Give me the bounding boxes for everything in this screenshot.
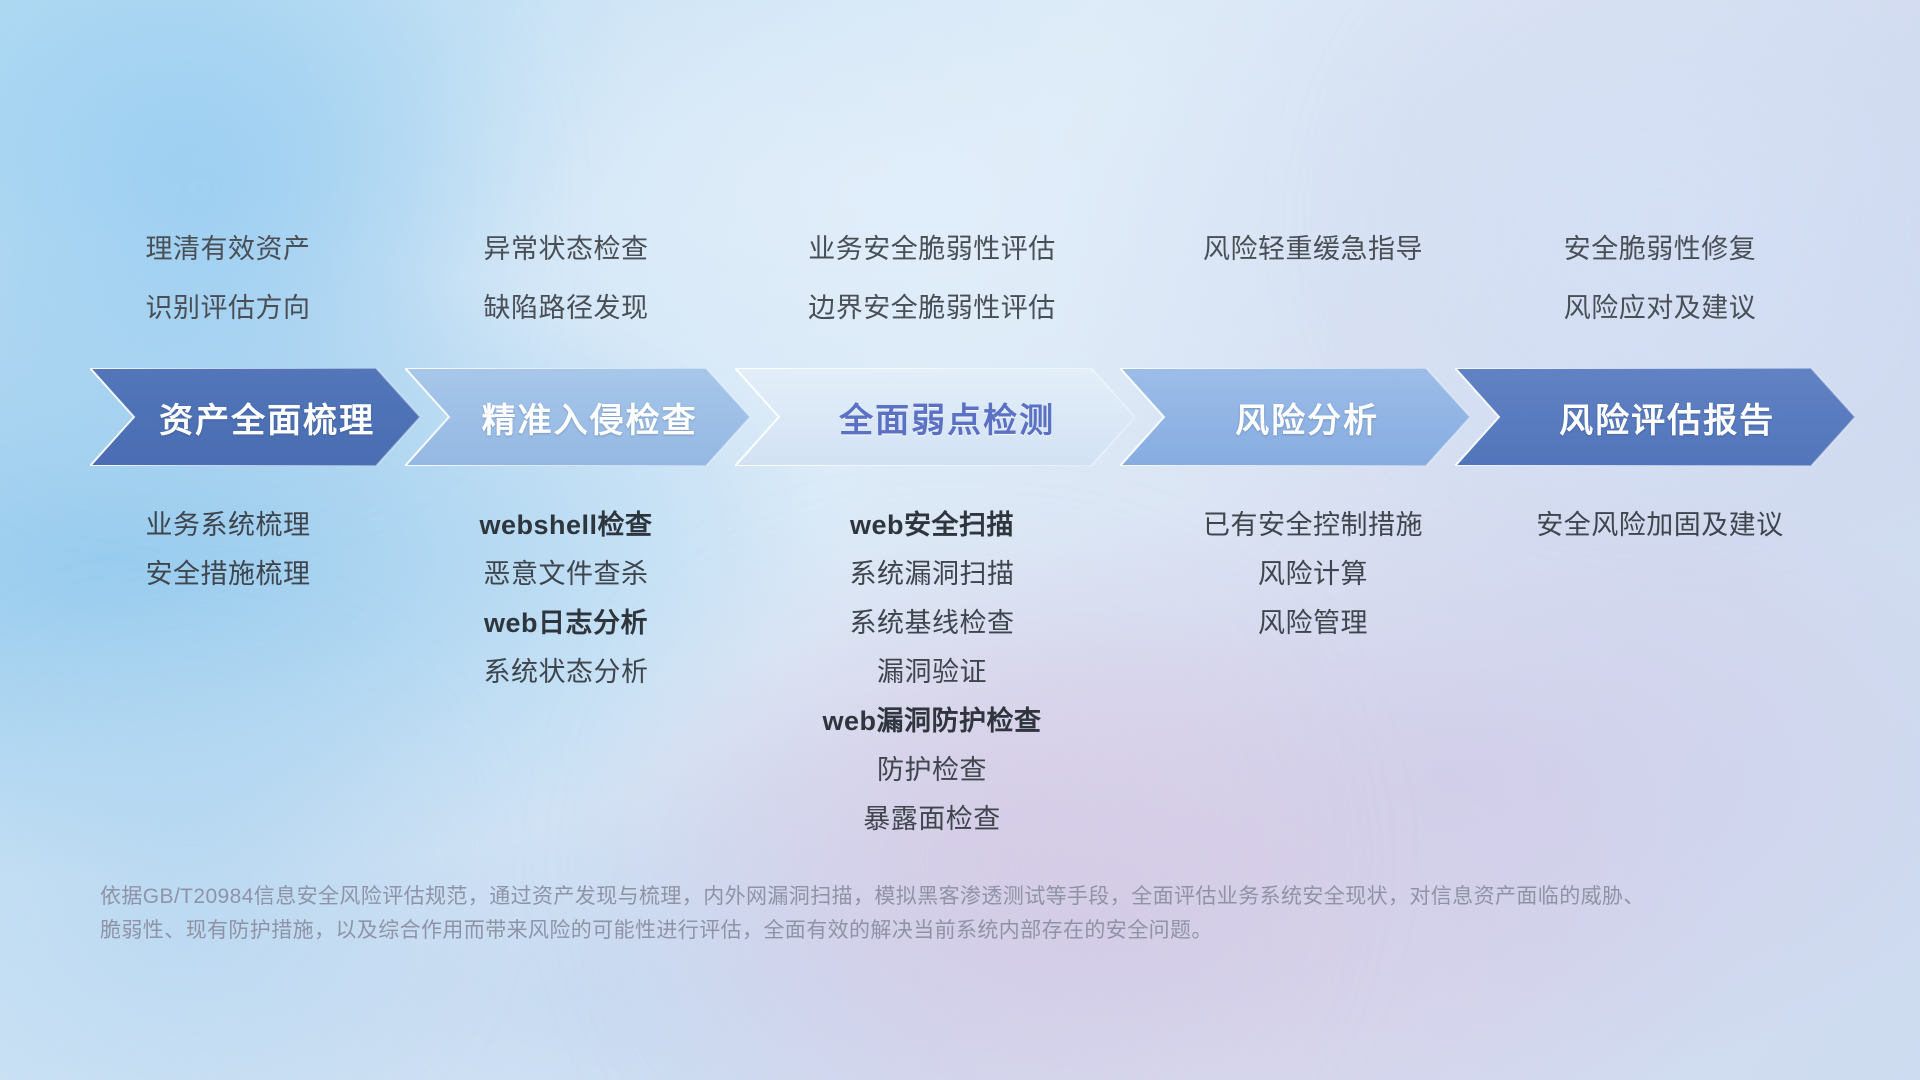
detail-item: 安全风险加固及建议 — [1360, 512, 1920, 539]
process-stage-weakness-detection[interactable]: 全面弱点检测 — [735, 368, 1135, 466]
detail-item: 防护检查 — [632, 757, 1232, 784]
detail-item: 漏洞验证 — [632, 659, 1232, 686]
slide-canvas: 理清有效资产识别评估方向异常状态检查缺陷路径发现业务安全脆弱性评估边界安全脆弱性… — [0, 0, 1920, 1080]
process-stage-intrusion-check[interactable]: 精准入侵检查 — [405, 368, 750, 466]
stage-label: 资产全面梳理 — [90, 393, 420, 442]
detail-item: 暴露面检查 — [632, 806, 1232, 833]
stage-label: 风险分析 — [1120, 393, 1470, 442]
process-stage-asset-inventory[interactable]: 资产全面梳理 — [90, 368, 420, 466]
stage-label: 精准入侵检查 — [405, 393, 750, 442]
detail-item: 风险管理 — [1013, 610, 1613, 637]
stage-label: 风险评估报告 — [1455, 393, 1855, 442]
detail-group-assessment-report: 安全风险加固及建议 — [1360, 512, 1920, 539]
stage-label: 全面弱点检测 — [735, 393, 1135, 442]
detail-item: web漏洞防护检查 — [632, 708, 1232, 735]
process-arrow-band: 资产全面梳理 精准入侵检查 全面弱点检测 — [0, 368, 1920, 466]
process-stage-assessment-report[interactable]: 风险评估报告 — [1455, 368, 1855, 466]
footer-description: 依据GB/T20984信息安全风险评估规范，通过资产发现与梳理，内外网漏洞扫描，… — [100, 880, 1660, 948]
process-stage-risk-analysis[interactable]: 风险分析 — [1120, 368, 1470, 466]
detail-item: 风险计算 — [1013, 561, 1613, 588]
